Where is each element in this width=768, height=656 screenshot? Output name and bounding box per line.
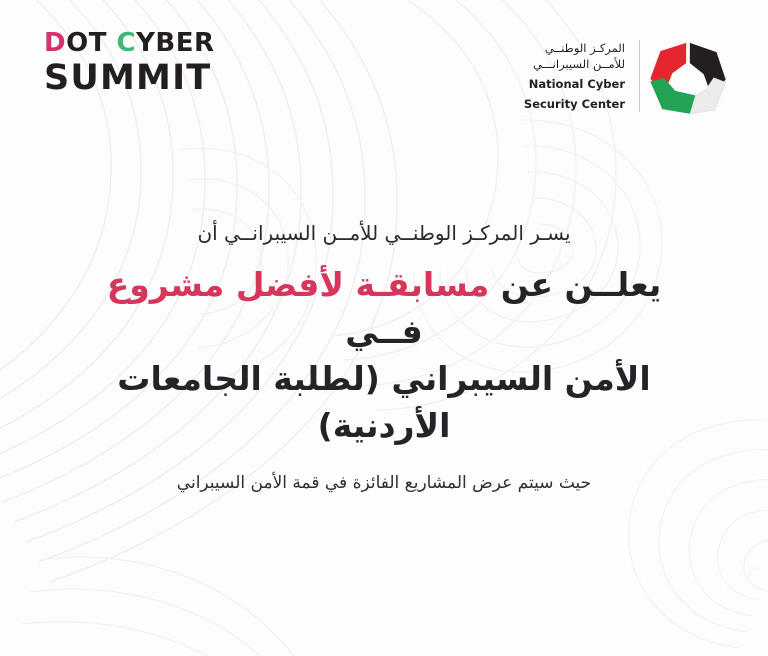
headline-line-2: الأمن السيبراني (لطلبة الجامعات الأردنية… [64,356,704,450]
poster-canvas: DOT CYBER SUMMIT [0,0,768,656]
summit-logo-letter-c: C [116,28,136,58]
summit-logo-cyber-rest: YBER [136,28,214,58]
headline-segment-2: فــي [345,312,423,351]
announcement-footnote: حيث سيتم عرض المشاريع الفائزة في قمة الأ… [0,471,768,497]
headline-accent-segment: مسابقـة لأفضل مشروع [107,265,490,304]
summit-logo-line2: SUMMIT [44,61,215,96]
headline-segment-1: يعلــن عن [489,265,661,304]
ncsc-arabic-line1: المركـز الوطنــي [524,40,625,57]
ncsc-english-line1: National Cyber [524,76,625,93]
dot-cyber-summit-logo: DOT CYBER SUMMIT [44,30,215,96]
summit-logo-letter-d: D [44,28,66,58]
summit-logo-line1: DOT CYBER [44,30,215,56]
summit-logo-dot-rest: OT [66,28,116,58]
announcement-headline: يعلــن عن مسابقـة لأفضل مشروع فــي الأمن… [64,262,704,449]
announcement-kicker-line: يسـر المركـز الوطنــي للأمــن السيبرانــ… [0,218,768,248]
poster-header: DOT CYBER SUMMIT [0,0,768,130]
announcement-message-block: يسـر المركـز الوطنــي للأمــن السيبرانــ… [0,218,768,497]
ncsc-logo-lockup: المركـز الوطنــي للأمــن السيبرانـــي Na… [524,30,746,122]
jordan-star-emblem-icon [642,30,734,122]
ncsc-logo-text-block: المركـز الوطنــي للأمــن السيبرانـــي Na… [524,40,640,113]
ncsc-arabic-line2: للأمــن السيبرانـــي [524,56,625,73]
ncsc-english-line2: Security Center [524,96,625,113]
